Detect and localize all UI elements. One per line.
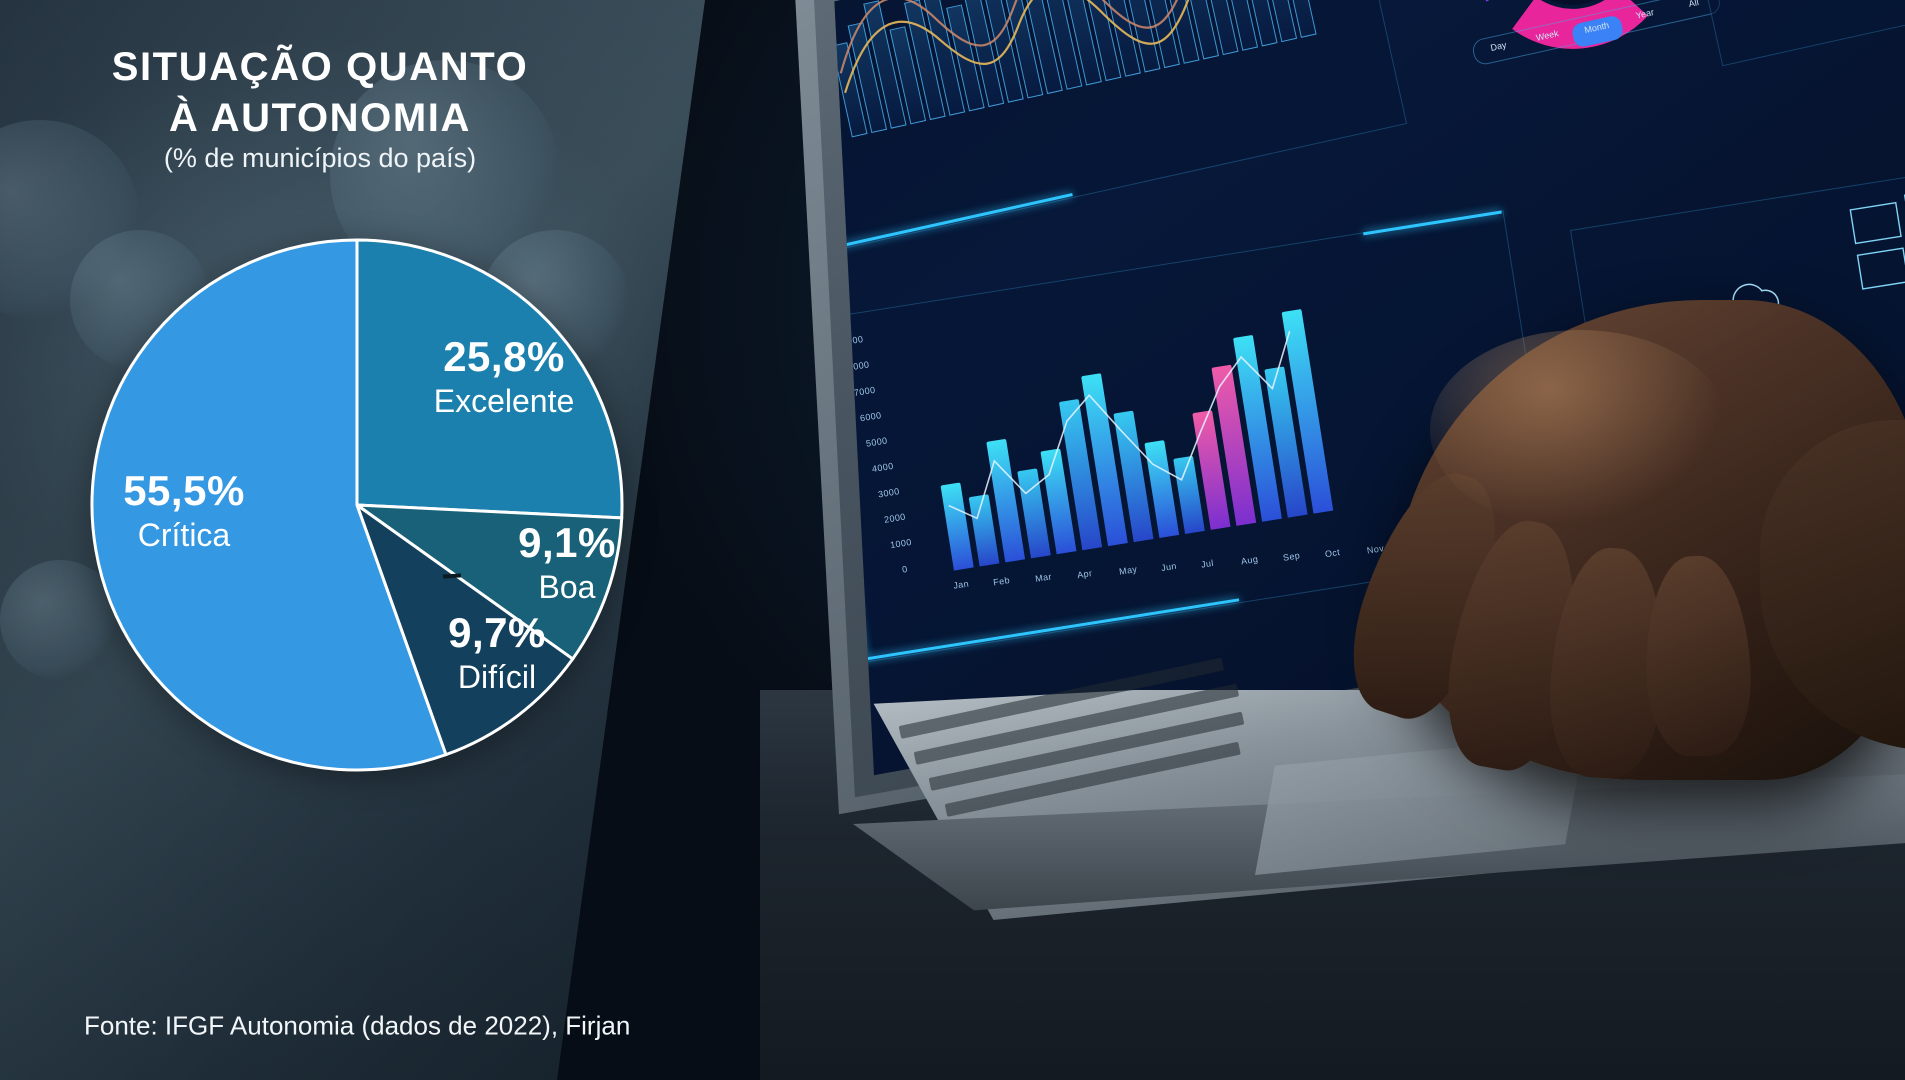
slice-value-excelente: 25,8%	[404, 336, 604, 378]
slice-name-boa: Boa	[492, 571, 642, 603]
slice-value-dificil: 9,7%	[412, 612, 582, 654]
title-line-1: SITUAÇÃO QUANTO	[112, 45, 529, 89]
slice-label-excelente: 25,8% Excelente	[404, 336, 604, 417]
slice-name-critica: Crítica	[84, 519, 284, 551]
hand-highlight	[1430, 330, 1730, 530]
page-subtitle: (% de municípios do país)	[0, 143, 640, 174]
slice-label-critica: 55,5% Crítica	[84, 470, 284, 551]
source-note: Fonte: IFGF Autonomia (dados de 2022), F…	[84, 1011, 630, 1042]
slice-label-dificil: 9,7% Difícil	[412, 612, 582, 693]
slice-label-boa: 9,1% Boa	[492, 522, 642, 603]
slice-name-dificil: Difícil	[412, 661, 582, 693]
page-title: SITUAÇÃO QUANTO À AUTONOMIA	[0, 42, 640, 144]
slice-value-critica: 55,5%	[84, 470, 284, 512]
slice-value-boa: 9,1%	[492, 522, 642, 564]
slice-name-excelente: Excelente	[404, 385, 604, 417]
title-line-2: À AUTONOMIA	[169, 96, 471, 140]
infographic-stage: 900 800 700 600 500 400 300 200 100	[0, 0, 1905, 1080]
